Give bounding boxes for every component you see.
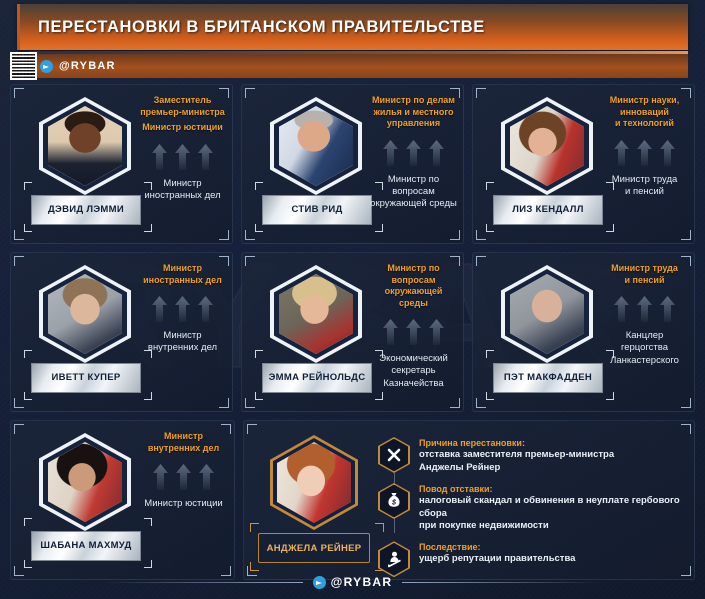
plate-corner	[250, 562, 259, 571]
divider	[103, 582, 303, 583]
arrow-up-icon	[637, 140, 652, 166]
minister-card[interactable]: ИВЕТТ КУПЕР Министр иностранных дел Мини…	[10, 252, 233, 412]
minister-name: ИВЕТТ КУПЕР	[51, 373, 120, 383]
former-role: Заместитель премьер-министра Министр юст…	[140, 95, 225, 134]
minister-card[interactable]: ДЭВИД ЛЭММИ Заместитель премьер-министра…	[10, 84, 233, 244]
fact-body: налоговый скандал и обвинения в неуплате…	[419, 495, 684, 532]
corner-bracket	[247, 424, 257, 434]
cards-grid: ДЭВИД ЛЭММИ Заместитель премьер-министра…	[0, 84, 705, 588]
arrow-up-icon	[406, 319, 421, 345]
corner-bracket	[476, 230, 486, 240]
arrow-up-icon	[429, 140, 444, 166]
cards-row-2: ИВЕТТ КУПЕР Министр иностранных дел Мини…	[0, 252, 705, 420]
corner-bracket	[476, 88, 486, 98]
transition-arrows	[383, 140, 444, 166]
rayner-name: АНДЖЕЛА РЕЙНЕР	[267, 543, 362, 554]
corner-bracket	[14, 230, 24, 240]
minister-name: ШАБАНА МАХМУД	[40, 541, 131, 551]
plate-corner	[24, 560, 32, 568]
name-plate: ШАБАНА МАХМУД	[31, 531, 141, 561]
corner-bracket	[245, 88, 255, 98]
portrait-hexagon	[270, 435, 358, 530]
portrait-hexagon	[39, 97, 131, 195]
new-role: Экономический секретарь Казначейства	[379, 353, 448, 390]
transition-arrows	[153, 464, 214, 490]
fact-body: отставка заместителя премьер-министра Ан…	[419, 449, 614, 474]
name-plate: АНДЖЕЛА РЕЙНЕР	[258, 533, 370, 563]
page-title: ПЕРЕСТАНОВКИ В БРИТАНСКОМ ПРАВИТЕЛЬСТВЕ	[20, 18, 485, 37]
fact-body: ущерб репутации правительства	[419, 553, 575, 565]
minister-name: ЛИЗ КЕНДАЛЛ	[512, 205, 583, 215]
name-plate: ПЭТ МАКФАДДЕН	[493, 363, 603, 393]
plate-corner	[255, 350, 263, 358]
arrow-up-icon	[152, 144, 167, 170]
corner-bracket	[476, 398, 486, 408]
arrow-up-icon	[198, 296, 213, 322]
new-role: Министр труда и пенсий	[612, 174, 678, 199]
name-plate: ЭММА РЕЙНОЛЬДС	[262, 363, 372, 393]
plate-corner	[24, 392, 32, 400]
former-role: Министр труда и пенсий	[611, 263, 678, 286]
footer-channel-label: @RYBAR	[331, 575, 393, 589]
former-role: Министр по вопросам окружающей среды	[370, 263, 457, 309]
fact-label: Последствие:	[419, 542, 575, 553]
portrait-hexagon	[270, 265, 362, 363]
arrow-up-icon	[383, 140, 398, 166]
arrow-up-icon	[614, 140, 629, 166]
divider	[402, 582, 602, 583]
plate-corner	[255, 182, 263, 190]
corner-bracket	[245, 230, 255, 240]
arrow-up-icon	[152, 296, 167, 322]
fact-item: $ Повод отставки: налоговый скандал и об…	[378, 483, 684, 532]
fact-label: Повод отставки:	[419, 484, 684, 495]
fact-item: Причина перестановки: отставка заместите…	[378, 437, 684, 474]
arrow-up-icon	[153, 464, 168, 490]
minister-card[interactable]: ЛИЗ КЕНДАЛЛ Министр науки, инноваций и т…	[472, 84, 695, 244]
transition-arrows	[152, 144, 213, 170]
portrait-hexagon	[270, 97, 362, 195]
plate-corner	[250, 523, 259, 532]
name-plate: ДЭВИД ЛЭММИ	[31, 195, 141, 225]
minister-name: ПЭТ МАКФАДДЕН	[504, 373, 592, 383]
portrait-hexagon	[501, 265, 593, 363]
infographic-page: RYBAR ПЕРЕСТАНОВКИ В БРИТАНСКОМ ПРАВИТЕЛ…	[0, 0, 705, 599]
plate-corner	[486, 350, 494, 358]
corner-bracket	[14, 88, 24, 98]
plate-corner	[486, 392, 494, 400]
header-subbar: @RYBAR	[30, 54, 688, 78]
arrow-up-icon	[637, 296, 652, 322]
former-role: Министр науки, инноваций и технологий	[610, 95, 679, 130]
minister-card[interactable]: ШАБАНА МАХМУД Министр внутренних дел Мин…	[10, 420, 235, 580]
arrow-up-icon	[175, 144, 190, 170]
corner-bracket	[681, 424, 691, 434]
plate-corner	[24, 182, 32, 190]
qr-code-icon	[10, 52, 37, 80]
corner-bracket	[476, 256, 486, 266]
rayner-panel[interactable]: АНДЖЕЛА РЕЙНЕР Причина перестановки: отс…	[243, 420, 695, 580]
transition-arrows	[152, 296, 213, 322]
header-channel-label: @RYBAR	[59, 60, 116, 72]
former-role: Министр по делам жилья и местного управл…	[372, 95, 455, 130]
transition-arrows	[383, 319, 444, 345]
cards-row-3: ШАБАНА МАХМУД Министр внутренних дел Мин…	[0, 420, 705, 588]
telegram-icon	[40, 60, 53, 73]
corner-bracket	[14, 424, 24, 434]
telegram-icon	[313, 576, 326, 589]
fact-label: Причина перестановки:	[419, 438, 614, 449]
corner-bracket	[14, 256, 24, 266]
plate-corner	[255, 392, 263, 400]
corner-bracket	[14, 398, 24, 408]
portrait-hexagon	[39, 265, 131, 363]
minister-card[interactable]: ЭММА РЕЙНОЛЬДС Министр по вопросам окруж…	[241, 252, 464, 412]
arrow-up-icon	[199, 464, 214, 490]
plate-corner	[255, 224, 263, 232]
arrow-up-icon	[660, 140, 675, 166]
arrow-up-icon	[614, 296, 629, 322]
arrow-up-icon	[406, 140, 421, 166]
name-plate: ИВЕТТ КУПЕР	[31, 363, 141, 393]
arrow-up-icon	[198, 144, 213, 170]
name-plate: ЛИЗ КЕНДАЛЛ	[493, 195, 603, 225]
arrow-up-icon	[429, 319, 444, 345]
new-role: Министр по вопросам окружающей среды	[370, 174, 457, 211]
svg-text:$: $	[391, 500, 396, 507]
minister-name: ДЭВИД ЛЭММИ	[48, 205, 124, 215]
arrow-up-icon	[383, 319, 398, 345]
portrait-hexagon	[501, 97, 593, 195]
footer: @RYBAR	[0, 571, 705, 593]
arrow-up-icon	[660, 296, 675, 322]
former-role: Министр внутренних дел	[148, 431, 219, 454]
plate-corner	[24, 224, 32, 232]
plate-corner	[486, 224, 494, 232]
former-role: Министр иностранных дел	[143, 263, 222, 286]
arrow-up-icon	[176, 464, 191, 490]
new-role: Министр юстиции	[144, 498, 222, 510]
arrow-up-icon	[175, 296, 190, 322]
x-mark-icon	[378, 437, 410, 473]
portrait-hexagon	[39, 433, 131, 531]
money-bag-icon: $	[378, 483, 410, 519]
minister-name: ЭММА РЕЙНОЛЬДС	[269, 373, 366, 383]
minister-card[interactable]: СТИВ РИД Министр по делам жилья и местно…	[241, 84, 464, 244]
minister-name: СТИВ РИД	[291, 205, 342, 215]
header-bar: ПЕРЕСТАНОВКИ В БРИТАНСКОМ ПРАВИТЕЛЬСТВЕ	[17, 4, 688, 50]
plate-corner	[24, 350, 32, 358]
transition-arrows	[614, 140, 675, 166]
connector-line	[394, 519, 396, 533]
transition-arrows	[614, 296, 675, 322]
cards-row-1: ДЭВИД ЛЭММИ Заместитель премьер-министра…	[0, 84, 705, 252]
new-role: Канцлер герцогства Ланкастерского	[601, 330, 688, 367]
new-role: Министр иностранных дел	[144, 178, 220, 203]
minister-card[interactable]: ПЭТ МАКФАДДЕН Министр труда и пенсий Кан…	[472, 252, 695, 412]
plate-corner	[486, 182, 494, 190]
corner-bracket	[245, 398, 255, 408]
facts-list: Причина перестановки: отставка заместите…	[378, 437, 684, 577]
plate-corner	[24, 518, 32, 526]
corner-bracket	[245, 256, 255, 266]
new-role: Министр внутренних дел	[148, 330, 217, 355]
name-plate: СТИВ РИД	[262, 195, 372, 225]
